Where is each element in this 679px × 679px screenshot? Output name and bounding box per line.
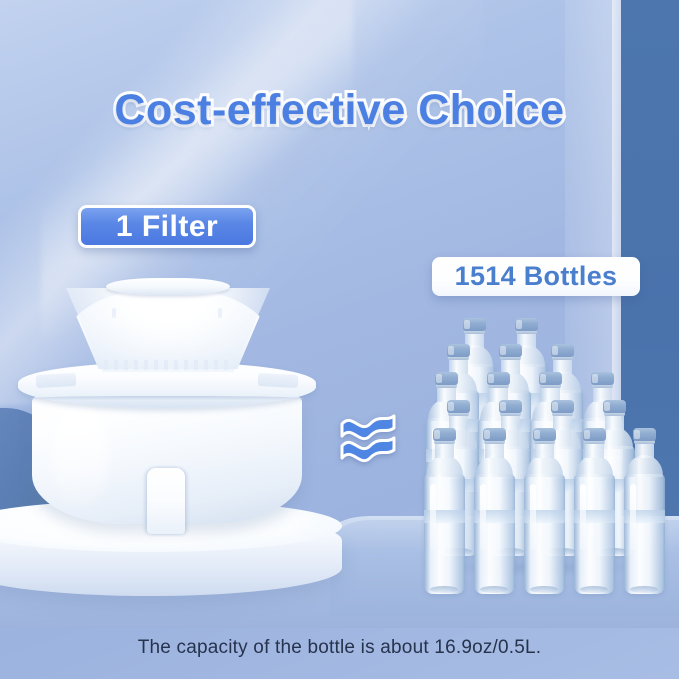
filter-bottom-tab [147,468,185,534]
bottle-cap [539,372,562,385]
bottle-cap [515,318,538,331]
bottle-cap [483,428,506,441]
filter-pin-right [218,308,222,318]
bottle-cap [447,344,470,357]
filter-pin-left [112,308,116,318]
bottle-highlight [580,484,586,550]
bottle-highlight [480,484,486,550]
bottle-base [580,586,608,593]
bottle-neck [553,415,572,430]
bottle-base [430,586,458,593]
bottle-cap [435,372,458,385]
bottle-cap [447,400,470,413]
bottle-highlight [530,484,536,550]
bottle-neck [585,443,604,458]
bottle-highlight [430,484,436,550]
bottle-cap [463,318,486,331]
badge-bottles-label: 1514 Bottles [455,261,618,292]
bottle-base [630,586,658,593]
filter-embossed-text [104,360,230,370]
filter-top-cap [106,278,230,295]
bottle-base [480,586,508,593]
bottle-neck [485,443,504,458]
bottle-cap [603,400,626,413]
filter-vent-slot-right [258,373,299,388]
bottle-cap [591,372,614,385]
bottle-neck [635,443,654,458]
bottle-cap [487,372,510,385]
badge-bottle-count: 1514 Bottles [432,257,640,296]
bottle-cap [551,400,574,413]
bottle-neck [605,415,624,430]
bottle-pyramid [420,318,668,572]
bottle-cap [499,400,522,413]
bottle-highlight [630,484,636,550]
bottle-cap [583,428,606,441]
bottle-neck [435,443,454,458]
bottle-cap [499,344,522,357]
water-filter-cartridge [22,278,312,533]
bottle-cap [551,344,574,357]
page-title: Cost-effective Choice [0,86,679,135]
badge-filter-label: 1 Filter [116,210,218,244]
capacity-caption: The capacity of the bottle is about 16.9… [0,637,679,659]
promo-image: Cost-effective Choice 1 Filter 1514 Bott… [0,0,679,679]
filter-collar-seam [30,396,304,401]
bottle-cap [533,428,556,441]
approximately-equal-icon [338,408,398,464]
bottle-base [530,586,558,593]
badge-filter-count: 1 Filter [78,205,256,248]
bottle-neck [535,443,554,458]
bottle-cap [633,428,656,441]
bottle-cap [433,428,456,441]
filter-body-highlight [52,404,108,508]
filter-vent-slot-left [36,373,77,388]
